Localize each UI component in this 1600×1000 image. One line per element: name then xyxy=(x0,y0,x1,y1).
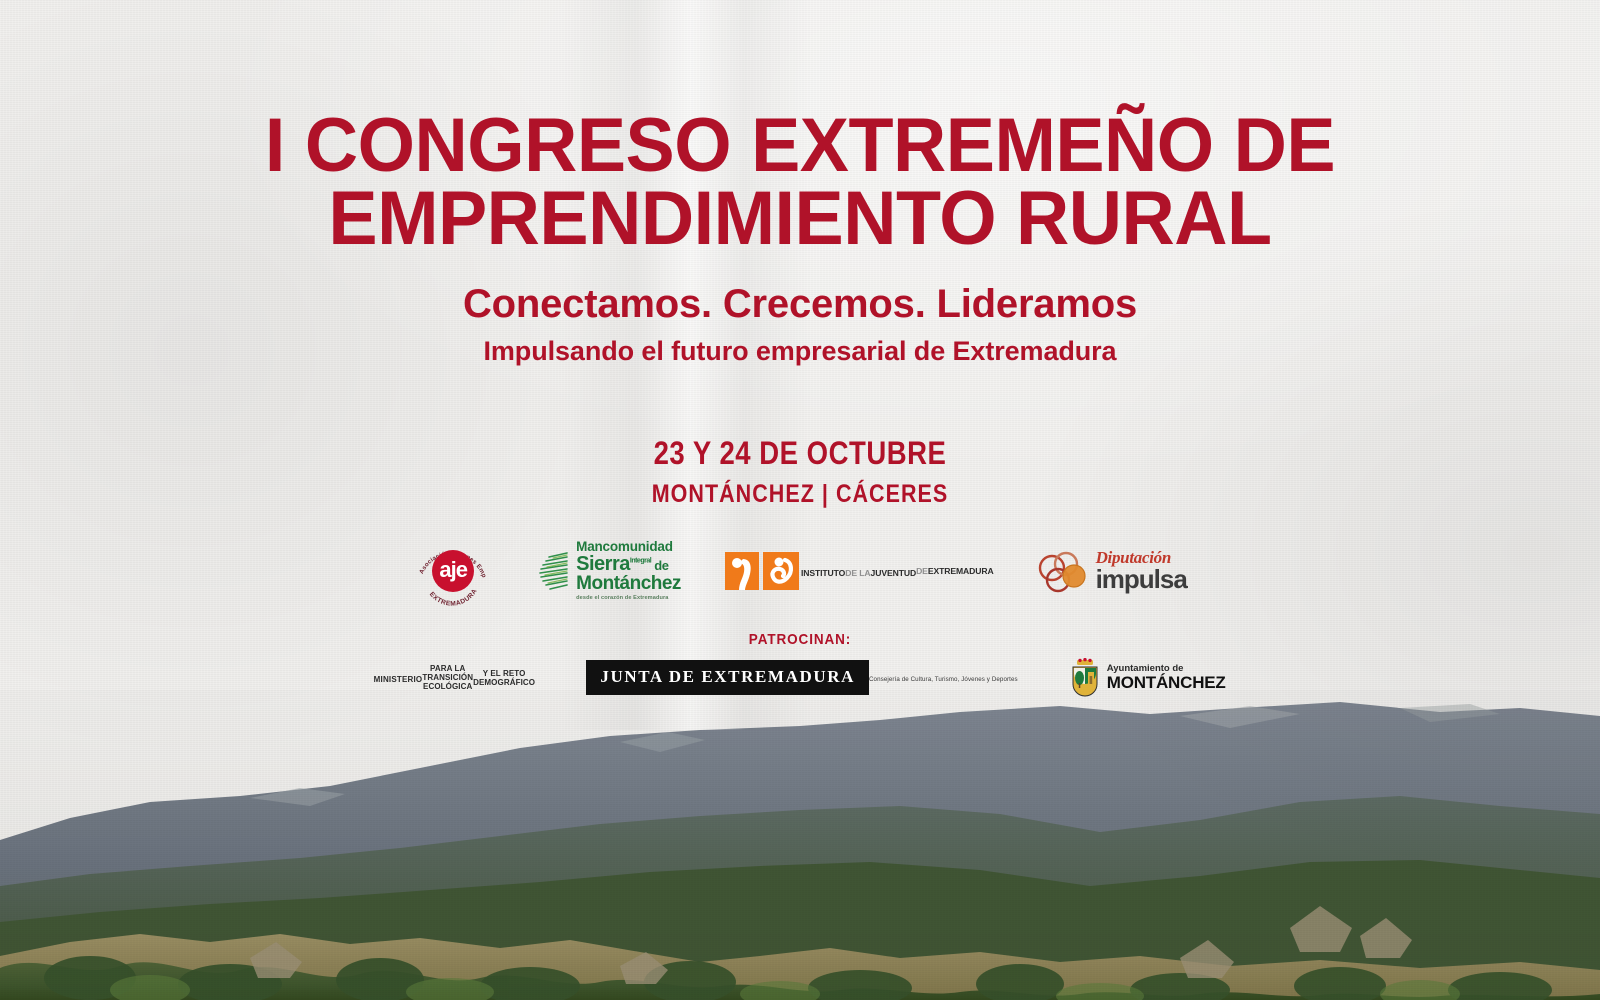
mancomunidad-strapline: desde el corazón de Extremadura xyxy=(576,596,681,602)
aje-extremadura-logo: Asociación Jóvenes Empresarios EXTREMADU… xyxy=(413,535,491,607)
title-line-2: EMPRENDIMIENTO RURAL xyxy=(24,183,1576,256)
sponsors-heading: PATROCINAN: xyxy=(80,631,1520,648)
juventud-figures-icon xyxy=(723,550,801,592)
event-date: 23 Y 24 DE OCTUBRE xyxy=(112,435,1488,472)
junta-wordmark: JUNTA DE EXTREMADURA xyxy=(586,660,869,695)
mancomunidad-de: de xyxy=(654,558,668,573)
diputacion-impulsa-logo: Diputación impulsa xyxy=(1036,548,1187,594)
ayuntamiento-de-montanchez-logo: Ayuntamiento de MONTÁNCHEZ xyxy=(1070,658,1226,698)
iju-dela: DE LA xyxy=(845,568,870,578)
sub-tagline: Impulsando el futuro empresarial de Extr… xyxy=(0,336,1600,367)
iju-instituto: INSTITUTO xyxy=(801,568,845,578)
aje-wordmark: aje xyxy=(439,559,467,581)
ministerio-line-1: MINISTERIO xyxy=(374,675,423,684)
montanchez-crest-icon xyxy=(1070,658,1100,698)
instituto-juventud-extremadura-logo: INSTITUTODE LAJUVENTUD DEEXTREMADURA xyxy=(723,550,994,592)
junta-de-extremadura-logo: JUNTA DE EXTREMADURA Consejería de Cultu… xyxy=(586,660,1017,695)
event-location: MONTÁNCHEZ | CÁCERES xyxy=(112,480,1488,509)
mancomunidad-integral: Integral xyxy=(630,557,651,564)
aje-disc: aje xyxy=(432,550,474,592)
page-title: I CONGRESO EXTREMEÑO DE EMPRENDIMIENTO R… xyxy=(24,0,1576,256)
junta-consejeria: Consejería de Cultura, Turismo, Jóvenes … xyxy=(869,676,1018,683)
sun-rays-icon xyxy=(533,549,573,593)
mancomunidad-sierra: Sierra xyxy=(576,553,630,575)
iju-juventud: JUVENTUD xyxy=(871,568,917,578)
ayuntamiento-line-2: MONTÁNCHEZ xyxy=(1107,674,1226,692)
mancomunidad-sierra-de-montanchez-logo: Mancomunidad SierraIntegral de Montánche… xyxy=(533,540,681,601)
iju-extremadura: EXTREMADURA xyxy=(928,566,994,576)
tagline: Conectamos. Crecemos. Lideramos xyxy=(0,282,1600,327)
impulsa-word: impulsa xyxy=(1096,567,1187,592)
iju-de: DE xyxy=(916,566,928,576)
ministerio-transicion-ecologica-logo: MINISTERIO PARA LA TRANSICIÓN ECOLÓGICA … xyxy=(374,658,534,698)
event-poster: I CONGRESO EXTREMEÑO DE EMPRENDIMIENTO R… xyxy=(0,0,1600,1000)
sponsor-logos-row: MINISTERIO PARA LA TRANSICIÓN ECOLÓGICA … xyxy=(0,658,1600,698)
organizer-logos-row: Asociación Jóvenes Empresarios EXTREMADU… xyxy=(0,535,1600,607)
ministerio-line-3: Y EL RETO DEMOGRÁFICO xyxy=(473,669,535,687)
overlapping-circles-icon xyxy=(1036,548,1090,594)
mancomunidad-line-1: Mancomunidad xyxy=(576,540,681,554)
ministerio-line-2: PARA LA TRANSICIÓN ECOLÓGICA xyxy=(422,664,473,691)
mancomunidad-montanchez: Montánchez xyxy=(576,574,681,593)
